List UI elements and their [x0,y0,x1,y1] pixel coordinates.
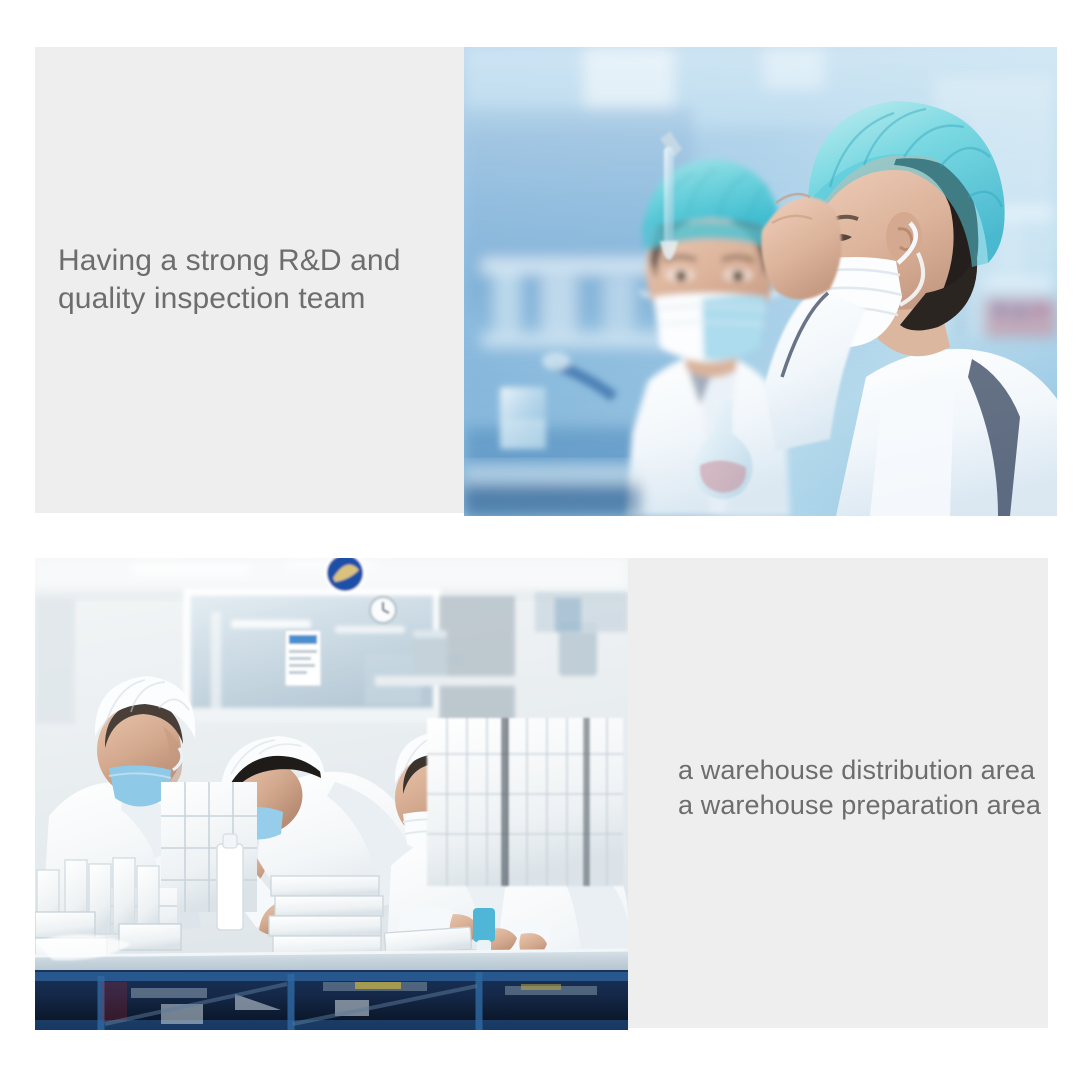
bottom-section: a warehouse distribution area a warehous… [35,558,1048,1030]
stainless-steel-table [35,950,628,1030]
lab-inspection-scene [464,47,1057,516]
wall-notice [285,630,321,686]
wall-clock [370,597,396,623]
top-caption-text: Having a strong R&D and quality inspecti… [58,242,458,318]
top-caption-panel: Having a strong R&D and quality inspecti… [35,47,464,513]
top-section: Having a strong R&D and quality inspecti… [35,47,1057,516]
warehouse-packing-scene [35,558,628,1030]
warehouse-packing-photo [35,558,628,1030]
flat-box-stack [269,876,383,956]
lab-inspection-photo [464,47,1057,516]
white-bottle [217,834,243,930]
bottom-caption-text: a warehouse distribution area a warehous… [678,753,1080,823]
bottom-caption-panel: a warehouse distribution area a warehous… [628,558,1048,1028]
poster-canvas: Having a strong R&D and quality inspecti… [0,0,1080,1080]
